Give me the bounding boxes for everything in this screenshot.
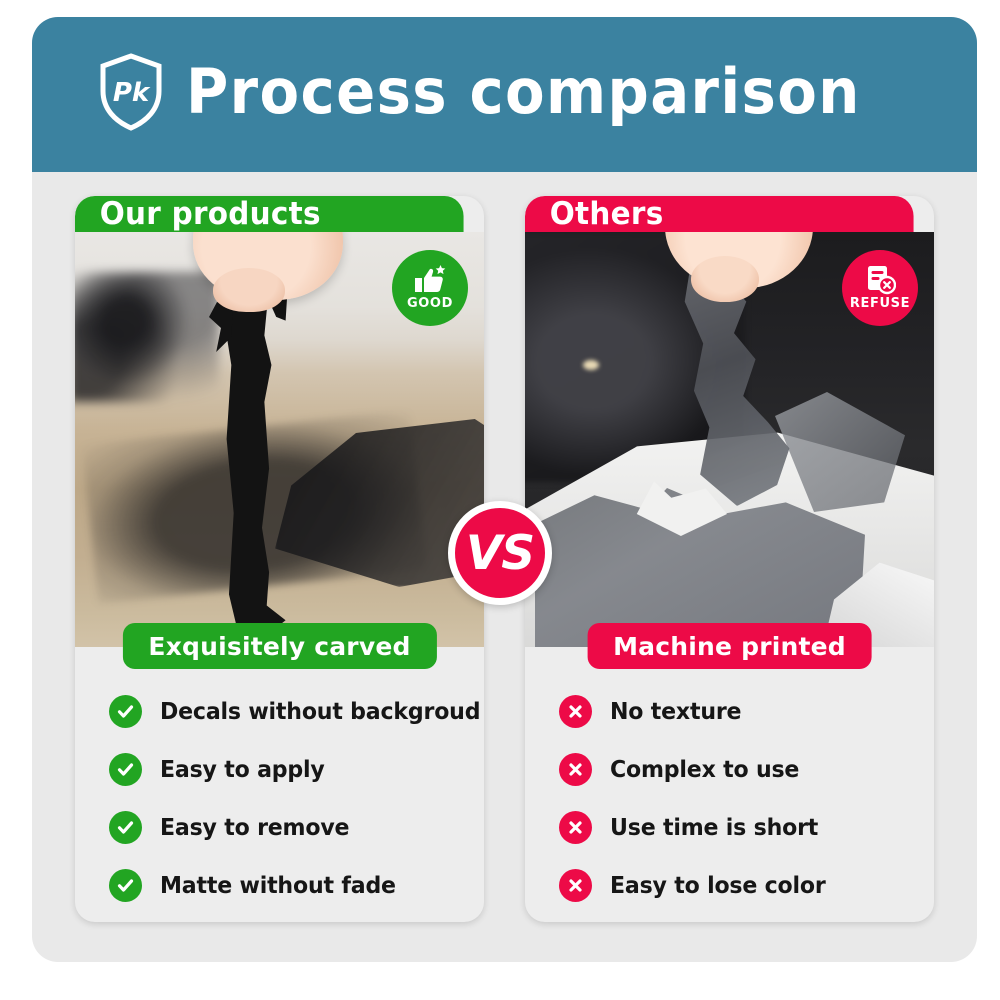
highlight-glint	[583, 360, 599, 370]
cross-icon	[559, 811, 592, 844]
badge-good-label: GOOD	[407, 296, 453, 311]
feature-label: Use time is short	[610, 815, 818, 841]
photo-wrap-others: REFUSE Machine printed	[525, 232, 934, 647]
cross-icon	[559, 753, 592, 786]
card-tab-others: Others	[525, 196, 914, 232]
badge-refuse: REFUSE	[842, 250, 918, 326]
badge-refuse-label: REFUSE	[850, 296, 910, 311]
feature-label: Complex to use	[610, 757, 799, 783]
list-item: Use time is short	[559, 811, 934, 844]
check-icon	[109, 753, 142, 786]
cross-icon	[559, 869, 592, 902]
svg-text:Pk: Pk	[113, 78, 151, 108]
card-our-products: Our products GOOD	[75, 196, 484, 922]
feature-list-our-products: Decals without backgroud Easy to apply E…	[75, 647, 484, 922]
list-item: Matte without fade	[109, 869, 484, 902]
list-item: Easy to lose color	[559, 869, 934, 902]
card-others: Others	[525, 196, 934, 922]
cross-icon	[559, 695, 592, 728]
check-icon	[109, 695, 142, 728]
feature-label: Decals without backgroud	[160, 699, 480, 725]
feature-label: Easy to apply	[160, 757, 325, 783]
feature-label: Easy to remove	[160, 815, 349, 841]
feature-list-others: No texture Complex to use Use time is sh…	[525, 647, 934, 922]
list-item: Complex to use	[559, 753, 934, 786]
list-item: Decals without backgroud	[109, 695, 484, 728]
shield-pk-logo-icon: Pk	[98, 53, 164, 131]
list-item: Easy to apply	[109, 753, 484, 786]
page-title: Process comparison	[186, 61, 861, 123]
photo-wrap-our-products: GOOD Exquisitely carved	[75, 232, 484, 647]
caption-our-products: Exquisitely carved	[122, 623, 436, 669]
vs-label: VS	[466, 530, 534, 577]
badge-good: GOOD	[392, 250, 468, 326]
feature-label: Easy to lose color	[610, 873, 826, 899]
list-item: No texture	[559, 695, 934, 728]
scissors-blurred	[75, 272, 219, 402]
caption-others: Machine printed	[587, 623, 872, 669]
list-item: Easy to remove	[109, 811, 484, 844]
document-reject-icon	[864, 265, 896, 295]
infographic-page: Pk Process comparison Our products	[0, 0, 1000, 1000]
thumbs-up-star-icon	[413, 265, 447, 295]
photo-our-products: GOOD	[75, 232, 484, 647]
feature-label: No texture	[610, 699, 741, 725]
check-icon	[109, 869, 142, 902]
card-tab-our-products: Our products	[75, 196, 464, 232]
hand-peeling-decal	[193, 232, 343, 300]
header-bar: Pk Process comparison	[32, 17, 977, 172]
vs-badge: VS	[448, 501, 552, 605]
photo-others: REFUSE	[525, 232, 934, 647]
check-icon	[109, 811, 142, 844]
feature-label: Matte without fade	[160, 873, 396, 899]
